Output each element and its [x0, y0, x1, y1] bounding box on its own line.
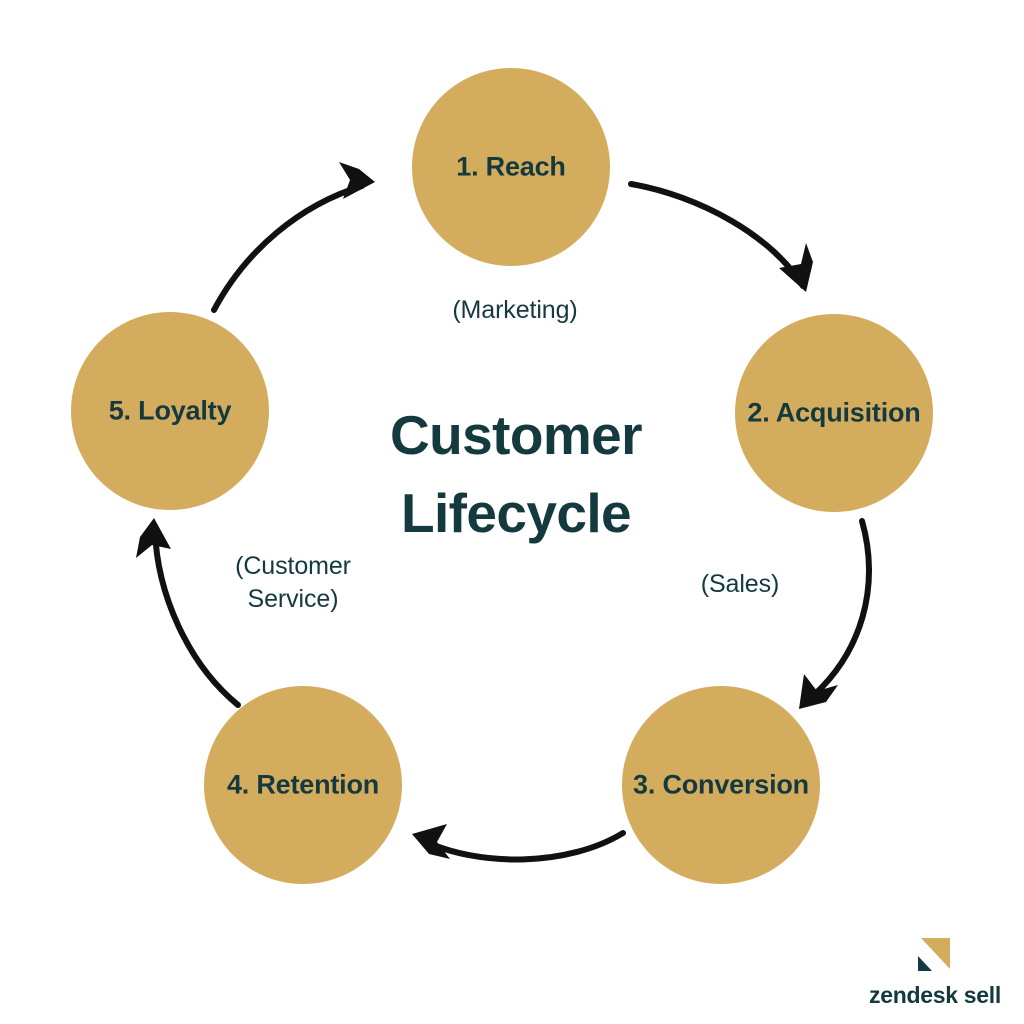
node-loyalty[interactable]: 5. Loyalty: [71, 312, 269, 510]
brand-logo: zendesk sell: [862, 936, 1008, 1012]
node-conversion[interactable]: 3. Conversion: [622, 686, 820, 884]
page-title-line1: Customer: [306, 396, 726, 474]
node-acquisition[interactable]: 2. Acquisition: [735, 314, 933, 512]
arrow-loyalty-to-reach: [214, 162, 375, 310]
arrow-conversion-to-retention: [412, 824, 623, 859]
note-customer-service-line1: (Customer: [235, 552, 351, 580]
arrow-reach-to-acquisition: [631, 184, 813, 292]
node-reach[interactable]: 1. Reach: [412, 68, 610, 266]
zendesk-logo-icon: [910, 936, 950, 976]
note-customer-service: (Customer Service): [193, 550, 393, 616]
brand-wordmark: zendesk sell: [862, 982, 1008, 1009]
node-acquisition-label: 2. Acquisition: [747, 398, 920, 429]
node-retention[interactable]: 4. Retention: [204, 686, 402, 884]
note-sales: (Sales): [640, 570, 840, 599]
note-customer-service-line2: Service): [248, 585, 339, 613]
diagram-canvas: 1. Reach (Marketing) 2. Acquisition (Sal…: [0, 0, 1024, 1024]
page-title-line2: Lifecycle: [306, 474, 726, 552]
node-retention-label: 4. Retention: [227, 770, 379, 801]
node-loyalty-label: 5. Loyalty: [109, 396, 232, 427]
node-conversion-label: 3. Conversion: [633, 770, 809, 801]
arrow-acquisition-to-conversion: [799, 521, 869, 709]
note-marketing: (Marketing): [415, 296, 615, 325]
node-reach-label: 1. Reach: [456, 152, 565, 183]
page-title: Customer Lifecycle: [306, 396, 726, 552]
